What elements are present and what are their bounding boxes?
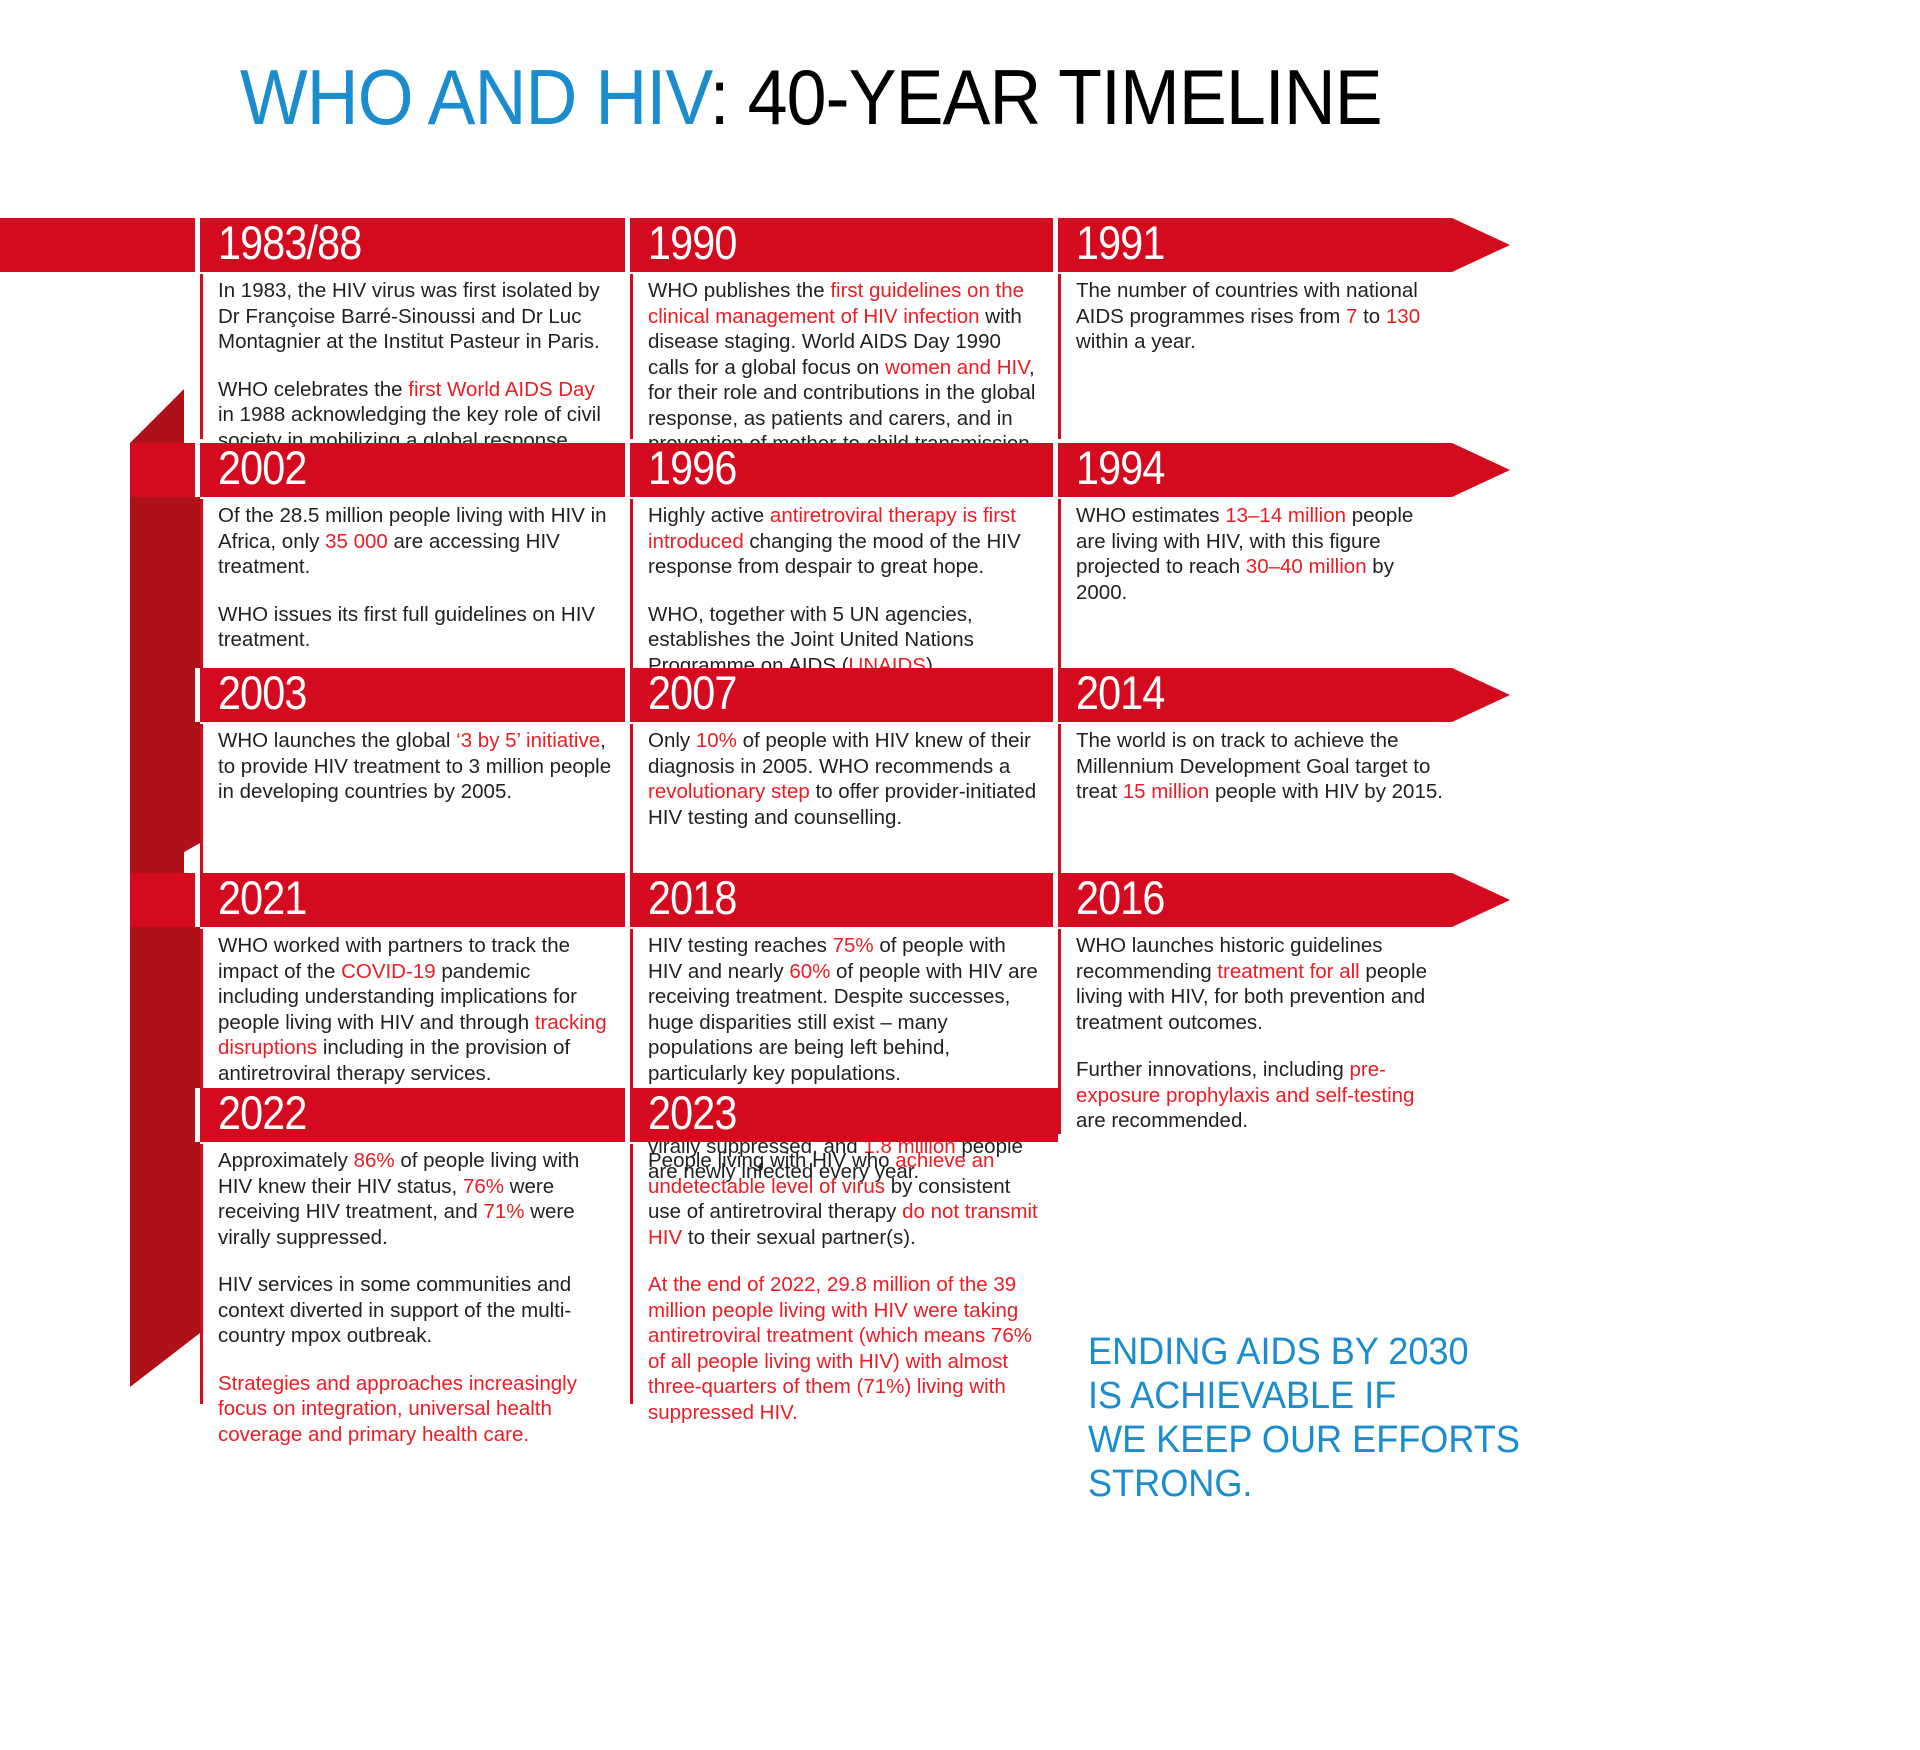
timeline-cell-body: WHO estimates 13–14 million people are l…: [1076, 503, 1444, 605]
highlight-text: Strategies and approaches increasingly f…: [218, 1372, 577, 1446]
highlight-text: treatment for all: [1217, 960, 1359, 983]
timeline-arrow-icon: [1452, 873, 1510, 927]
highlight-text: At the end of 2022, 29.8 million of the …: [648, 1273, 1032, 1424]
page-title-highlight: WHO AND HIV: [240, 53, 710, 141]
timeline-cell-rule: [200, 499, 203, 674]
timeline-arrow-icon: [1452, 668, 1510, 722]
highlight-text: 7: [1346, 305, 1357, 328]
timeline-cell-divider: [625, 1088, 630, 1142]
timeline-cell-body: Highly active antiretroviral therapy is …: [648, 503, 1044, 678]
timeline-paragraph: WHO launches the global ‘3 by 5’ initiat…: [218, 728, 616, 805]
page-title: WHO AND HIV: 40-YEAR TIMELINE: [240, 58, 1382, 136]
timeline-year-label: 2023: [648, 1084, 736, 1142]
timeline-cell-body: The number of countries with national AI…: [1076, 278, 1444, 355]
timeline-cell: 1994WHO estimates 13–14 million people a…: [1058, 443, 1458, 682]
timeline-cell-rule: [200, 274, 203, 439]
timeline-cell-divider: [195, 1088, 200, 1142]
body-text: within a year.: [1076, 330, 1196, 353]
timeline-cell-divider: [195, 443, 200, 497]
timeline-year-label: 1983/88: [218, 214, 361, 272]
body-text: WHO issues its first full guidelines on …: [218, 603, 595, 652]
highlight-text: 10%: [696, 729, 737, 752]
timeline-cell-divider: [625, 668, 630, 722]
timeline-year-label: 1991: [1076, 214, 1164, 272]
highlight-text: 15 million: [1123, 780, 1210, 803]
timeline-cell: 1991The number of countries with nationa…: [1058, 218, 1458, 447]
body-text: HIV services in some communities and con…: [218, 1273, 571, 1347]
timeline-paragraph: WHO launches historic guidelines recomme…: [1076, 933, 1444, 1035]
timeline-cell-rule: [200, 724, 203, 889]
highlight-text: 86%: [354, 1149, 395, 1172]
body-text: HIV testing reaches: [648, 934, 833, 957]
timeline-year-label: 2018: [648, 869, 736, 927]
highlight-text: 75%: [833, 934, 874, 957]
timeline-cell-divider: [625, 443, 630, 497]
timeline-paragraph: People living with HIV who achieve an un…: [648, 1148, 1044, 1250]
timeline-cell: 2003WHO launches the global ‘3 by 5’ ini…: [200, 668, 630, 897]
timeline-cell-rule: [1058, 274, 1061, 439]
timeline-cell-rule: [630, 724, 633, 889]
timeline-cell-rule: [200, 1144, 203, 1404]
highlight-text: COVID-19: [341, 960, 436, 983]
timeline-paragraph: Of the 28.5 million people living with H…: [218, 503, 616, 580]
timeline-cell: 2014The world is on track to achieve the…: [1058, 668, 1458, 897]
timeline-cell-divider: [195, 873, 200, 927]
timeline-year-label: 2014: [1076, 664, 1164, 722]
timeline-cell-body: People living with HIV who achieve an un…: [648, 1148, 1044, 1425]
highlight-text: 35 000: [325, 530, 388, 553]
timeline-year-label: 1996: [648, 439, 736, 497]
timeline-cell-rule: [630, 1144, 633, 1404]
timeline-year-label: 2003: [218, 664, 306, 722]
timeline-cell: 1983/88In 1983, the HIV virus was first …: [200, 218, 630, 447]
body-text: WHO publishes the: [648, 279, 830, 302]
highlight-text: 76%: [463, 1175, 504, 1198]
timeline-year-label: 2002: [218, 439, 306, 497]
highlight-text: 130: [1386, 305, 1420, 328]
body-text: to their sexual partner(s).: [682, 1226, 916, 1249]
timeline-cell-body: Of the 28.5 million people living with H…: [218, 503, 616, 653]
timeline-paragraph: The world is on track to achieve the Mil…: [1076, 728, 1444, 805]
timeline-cell-divider: [625, 873, 630, 927]
timeline-arrow-icon: [1452, 443, 1510, 497]
timeline-paragraph: WHO publishes the first guidelines on th…: [648, 278, 1044, 457]
body-text: Only: [648, 729, 696, 752]
timeline-paragraph: The number of countries with national AI…: [1076, 278, 1444, 355]
timeline-row: 2003WHO launches the global ‘3 by 5’ ini…: [0, 668, 1920, 897]
timeline-arrow-icon: [1452, 218, 1510, 272]
timeline: 1983/88In 1983, the HIV virus was first …: [0, 218, 1920, 1718]
timeline-cell-body: WHO publishes the first guidelines on th…: [648, 278, 1044, 457]
closing-statement-line: ENDING AIDS BY 2030: [1088, 1330, 1520, 1374]
closing-statement-line: IS ACHIEVABLE IF: [1088, 1374, 1520, 1418]
timeline-year-label: 2021: [218, 869, 306, 927]
highlight-text: 13–14 million: [1225, 504, 1346, 527]
body-text: WHO estimates: [1076, 504, 1225, 527]
timeline-cell-divider: [195, 218, 200, 272]
timeline-paragraph: Strategies and approaches increasingly f…: [218, 1371, 616, 1448]
body-text: to: [1357, 305, 1386, 328]
timeline-cell-rule: [1058, 724, 1061, 889]
timeline-cell-body: Only 10% of people with HIV knew of thei…: [648, 728, 1044, 830]
timeline-cell: 2007Only 10% of people with HIV knew of …: [630, 668, 1058, 897]
highlight-text: ‘3 by 5’ initiative: [456, 729, 600, 752]
body-text: WHO celebrates the: [218, 378, 408, 401]
highlight-text: 30–40 million: [1246, 555, 1367, 578]
timeline-cell-rule: [630, 499, 633, 674]
closing-statement-line: STRONG.: [1088, 1462, 1520, 1506]
timeline-year-label: 2022: [218, 1084, 306, 1142]
highlight-text: 71%: [484, 1200, 525, 1223]
timeline-cell-divider: [1053, 218, 1058, 272]
highlight-text: women and HIV: [885, 356, 1029, 379]
timeline-year-label: 2016: [1076, 869, 1164, 927]
timeline-year-label: 1994: [1076, 439, 1164, 497]
timeline-paragraph: HIV services in some communities and con…: [218, 1272, 616, 1349]
timeline-cell-body: The world is on track to achieve the Mil…: [1076, 728, 1444, 805]
timeline-cell: 1996Highly active antiretroviral therapy…: [630, 443, 1058, 682]
timeline-cell-divider: [1053, 443, 1058, 497]
body-text: Approximately: [218, 1149, 354, 1172]
body-text: people with HIV by 2015.: [1209, 780, 1443, 803]
body-text: WHO launches the global: [218, 729, 456, 752]
timeline-paragraph: Only 10% of people with HIV knew of thei…: [648, 728, 1044, 830]
highlight-text: first World AIDS Day: [408, 378, 594, 401]
timeline-cell-rule: [630, 274, 633, 439]
timeline-cell-rule: [1058, 499, 1061, 674]
timeline-cell-divider: [195, 668, 200, 722]
timeline-paragraph: Highly active antiretroviral therapy is …: [648, 503, 1044, 580]
timeline-cell-body: WHO worked with partners to track the im…: [218, 933, 616, 1086]
body-text: Highly active: [648, 504, 770, 527]
body-text: People living with HIV who: [648, 1149, 895, 1172]
highlight-text: 60%: [789, 960, 830, 983]
timeline-row: 2002Of the 28.5 million people living wi…: [0, 443, 1920, 682]
timeline-cell: 2023People living with HIV who achieve a…: [630, 1088, 1058, 1412]
timeline-paragraph: At the end of 2022, 29.8 million of the …: [648, 1272, 1044, 1425]
timeline-row: 2022Approximately 86% of people living w…: [0, 1088, 1920, 1412]
timeline-cell: 2022Approximately 86% of people living w…: [200, 1088, 630, 1412]
page-title-rest: : 40-YEAR TIMELINE: [710, 53, 1382, 141]
timeline-paragraph: HIV testing reaches 75% of people with H…: [648, 933, 1044, 1086]
timeline-row: 1983/88In 1983, the HIV virus was first …: [0, 218, 1920, 447]
timeline-paragraph: WHO worked with partners to track the im…: [218, 933, 616, 1086]
closing-statement: ENDING AIDS BY 2030IS ACHIEVABLE IFWE KE…: [1088, 1330, 1520, 1506]
timeline-cell-divider: [625, 218, 630, 272]
highlight-text: revolutionary step: [648, 780, 810, 803]
timeline-year-label: 2007: [648, 664, 736, 722]
body-text: In 1983, the HIV virus was first isolate…: [218, 279, 600, 353]
timeline-cell-divider: [1053, 668, 1058, 722]
timeline-paragraph: In 1983, the HIV virus was first isolate…: [218, 278, 616, 355]
timeline-cell-body: Approximately 86% of people living with …: [218, 1148, 616, 1447]
timeline-paragraph: WHO estimates 13–14 million people are l…: [1076, 503, 1444, 605]
timeline-cell-body: WHO launches the global ‘3 by 5’ initiat…: [218, 728, 616, 805]
timeline-cell-divider: [1053, 873, 1058, 927]
timeline-cell-body: In 1983, the HIV virus was first isolate…: [218, 278, 616, 453]
closing-statement-line: WE KEEP OUR EFFORTS: [1088, 1418, 1520, 1462]
timeline-year-label: 1990: [648, 214, 736, 272]
timeline-paragraph: Approximately 86% of people living with …: [218, 1148, 616, 1250]
timeline-paragraph: WHO issues its first full guidelines on …: [218, 602, 616, 653]
body-text: Further innovations, including: [1076, 1058, 1350, 1081]
timeline-cell: 1990WHO publishes the first guidelines o…: [630, 218, 1058, 447]
timeline-cell: 2002Of the 28.5 million people living wi…: [200, 443, 630, 682]
